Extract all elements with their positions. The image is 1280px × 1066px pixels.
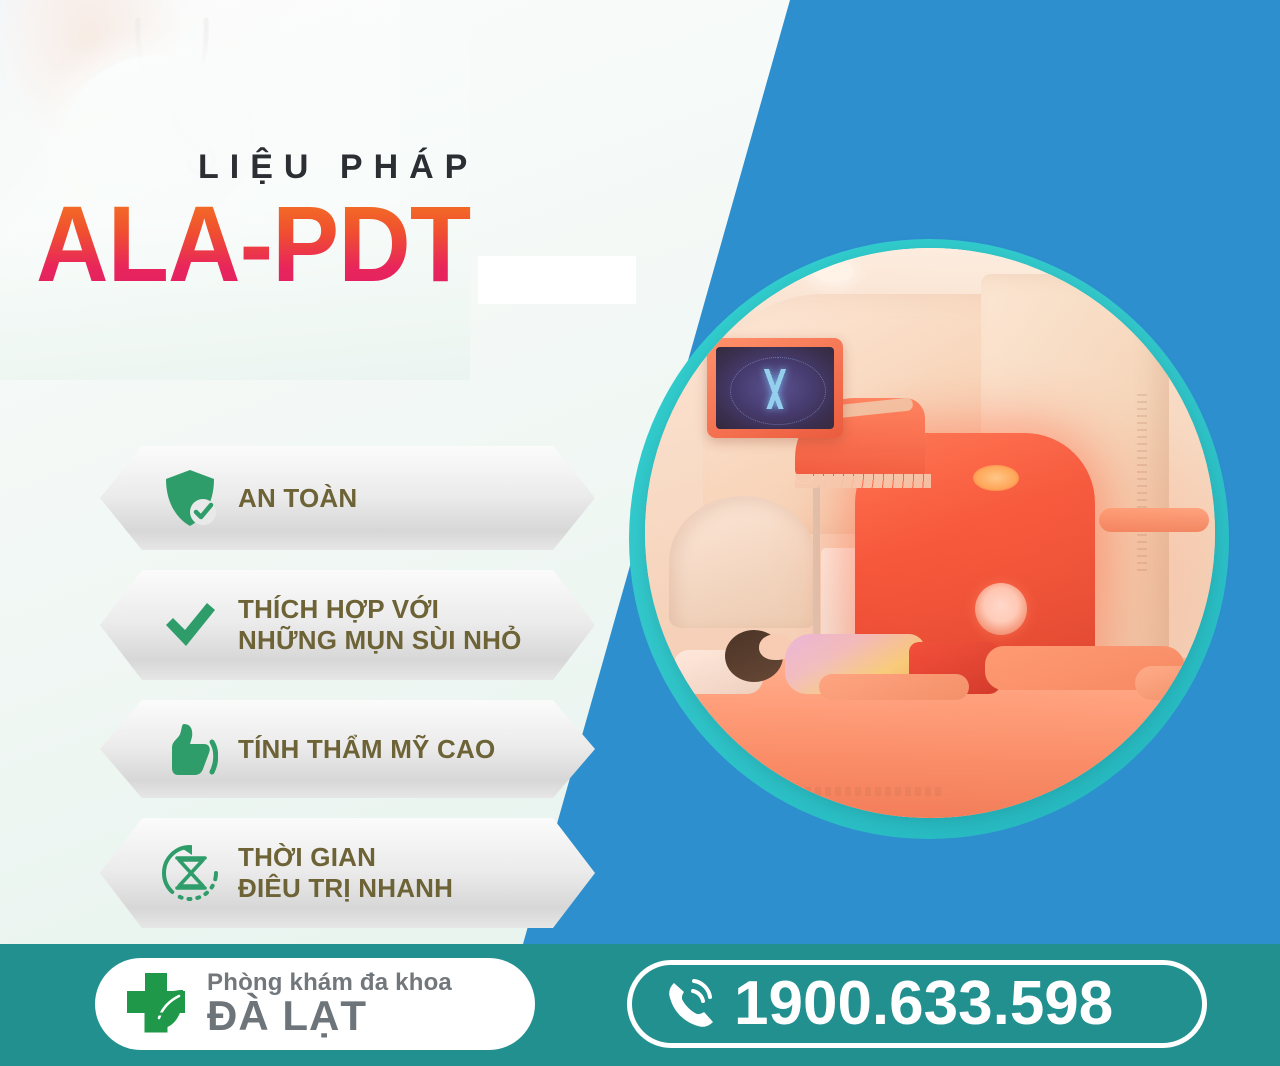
page-title: ALA-PDT [36, 190, 470, 298]
feature-badge-list: AN TOÀN THÍCH HỢP VỚI NHỮNG MỤN SÙI NHỎ [100, 446, 595, 948]
hotline-button[interactable]: 1900.633.598 [627, 960, 1207, 1048]
thumbs-up-icon [142, 720, 238, 778]
pdt-treatment-photo [645, 248, 1215, 818]
promo-banner: LIỆU PHÁP ALA-PDT [0, 0, 1280, 1066]
clinic-name: ĐÀ LẠT [207, 995, 452, 1038]
feature-badge-an-toan[interactable]: AN TOÀN [100, 446, 595, 550]
page-kicker: LIỆU PHÁP [198, 148, 478, 187]
feature-badge-label: THÍCH HỢP VỚI NHỮNG MỤN SÙI NHỎ [238, 594, 532, 655]
phone-ring-icon [648, 973, 734, 1035]
check-mark-icon [142, 597, 238, 653]
cross-leaf-logo-icon [109, 969, 201, 1039]
feature-badge-thich-hop[interactable]: THÍCH HỢP VỚI NHỮNG MỤN SÙI NHỎ [100, 570, 595, 680]
feature-badge-thoi-gian[interactable]: THỜI GIAN ĐIÊU TRỊ NHANH [100, 818, 595, 928]
hotline-number: 1900.633.598 [734, 973, 1113, 1035]
feature-badge-label: AN TOÀN [238, 483, 367, 514]
hourglass-clock-icon [142, 842, 238, 904]
feature-badge-label: THỜI GIAN ĐIÊU TRỊ NHANH [238, 842, 463, 903]
redaction-block [478, 256, 636, 304]
clinic-branding[interactable]: Phòng khám đa khoa ĐÀ LẠT [95, 958, 535, 1050]
feature-badge-tham-my[interactable]: TÍNH THẨM MỸ CAO [100, 700, 595, 798]
feature-badge-label: TÍNH THẨM MỸ CAO [238, 734, 505, 765]
shield-check-icon [142, 468, 238, 528]
footer-bar: Phòng khám đa khoa ĐÀ LẠT 1900.633.598 [0, 944, 1280, 1066]
